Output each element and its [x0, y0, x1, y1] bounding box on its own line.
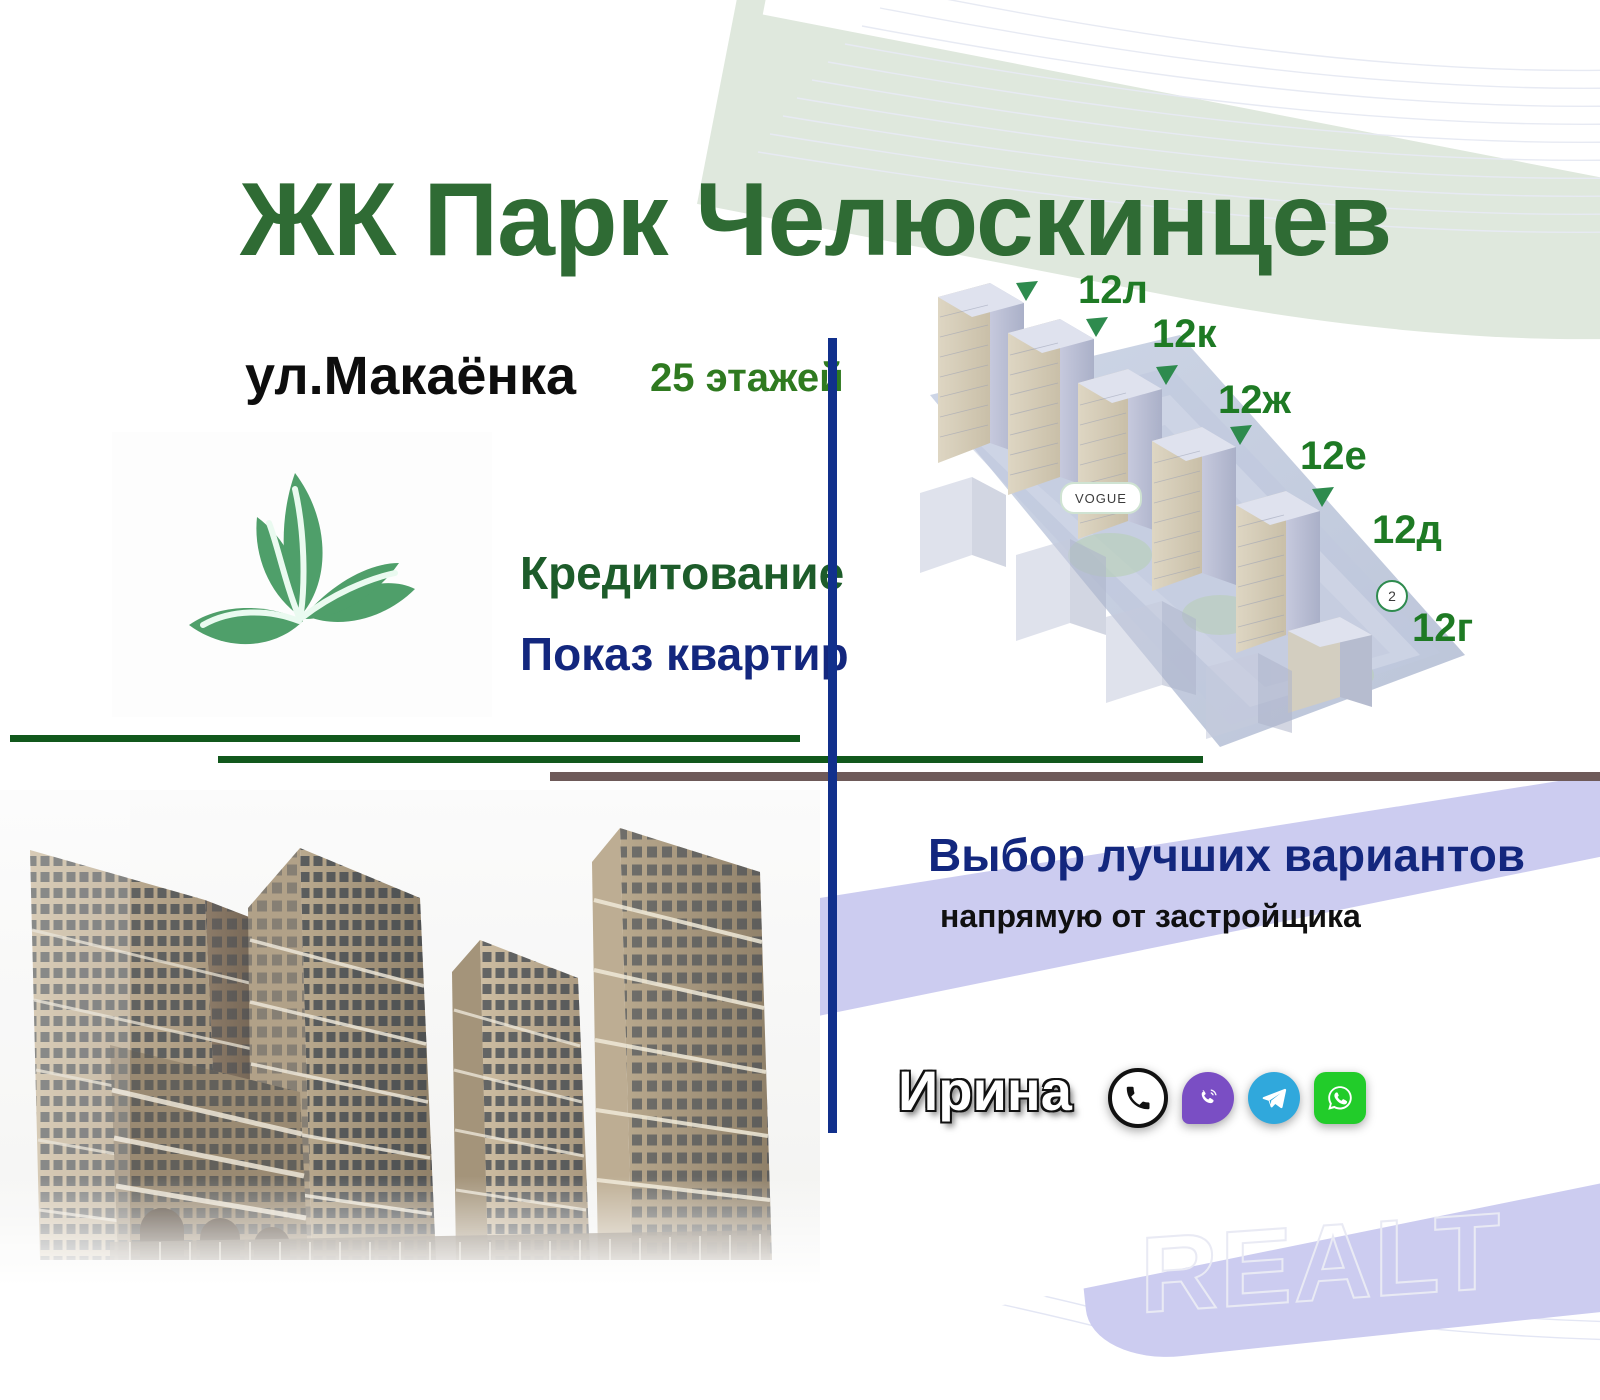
ad-banner: REALT ЖК Парк Челюскинцев ул.Макаёнка 25…	[0, 0, 1600, 1400]
offer-credit: Кредитование	[520, 546, 844, 600]
phone-icon[interactable]	[1108, 1068, 1168, 1128]
contact-icons	[1108, 1068, 1366, 1128]
vogue-pin-marker: VOGUE	[1060, 482, 1142, 514]
viber-icon[interactable]	[1182, 1072, 1234, 1124]
offer-viewing: Показ квартир	[520, 627, 849, 681]
render-label-12zh: 12ж	[1218, 378, 1291, 423]
number-pin-marker: 2	[1376, 580, 1408, 612]
divider-green-lower	[218, 756, 1203, 763]
agent-name: Ирина	[898, 1058, 1072, 1123]
street-label: ул.Макаёнка	[245, 345, 576, 407]
telegram-icon[interactable]	[1248, 1072, 1300, 1124]
whatsapp-icon[interactable]	[1314, 1072, 1366, 1124]
leaf-logo	[112, 432, 492, 717]
render-label-12d: 12д	[1372, 508, 1442, 553]
render-label-12k: 12к	[1152, 312, 1217, 357]
divider-green-upper	[10, 735, 800, 742]
building-photo	[0, 790, 820, 1285]
direct-developer-subline: напрямую от застройщика	[940, 898, 1361, 935]
divider-vertical	[828, 338, 837, 1133]
best-options-headline: Выбор лучших вариантов	[928, 828, 1525, 882]
floors-label: 25 этажей	[650, 356, 844, 401]
render-label-12e: 12е	[1300, 434, 1367, 479]
render-label-12l: 12л	[1078, 268, 1148, 313]
divider-brown	[550, 772, 1600, 781]
realt-watermark: REALT	[1140, 1187, 1502, 1337]
render-label-12g: 12г	[1412, 606, 1473, 651]
